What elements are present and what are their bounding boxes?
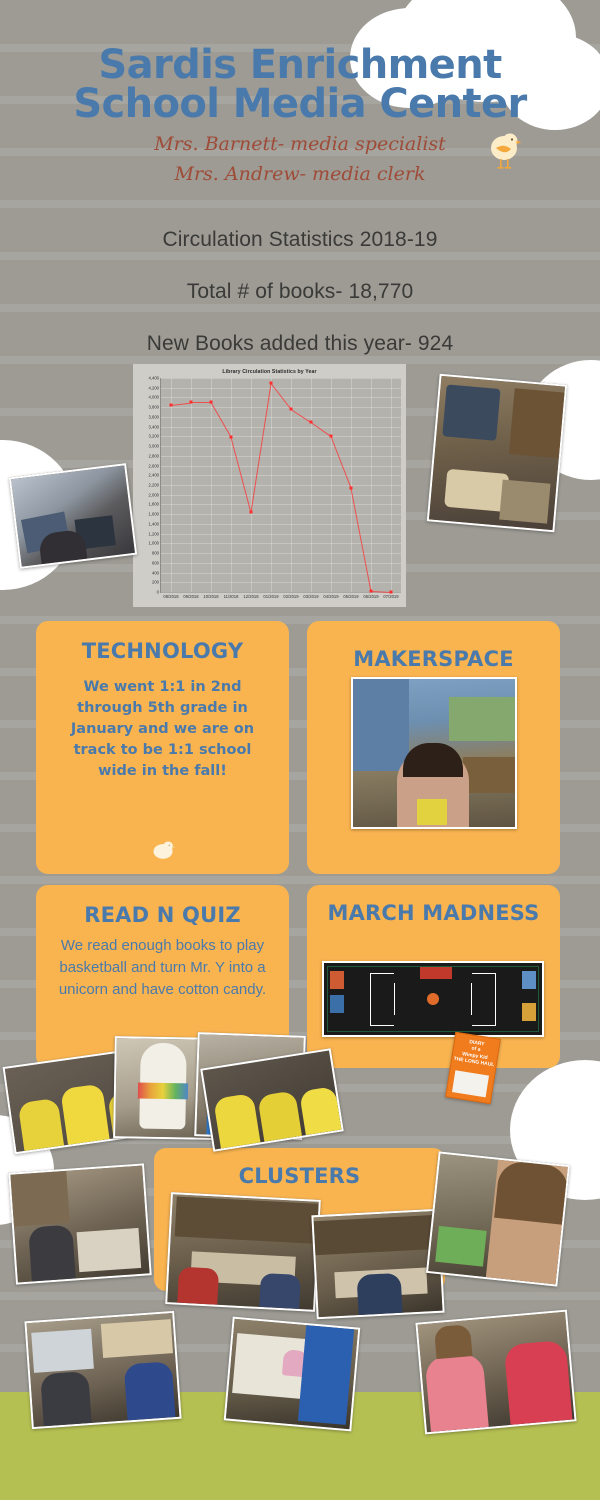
photo-cluster-table-2 [311,1209,444,1320]
chart-gridline [161,553,401,554]
chart-gridline [251,378,252,592]
chart-y-axis-tick: 1,000 [149,541,159,546]
book-cover-art [452,1070,489,1097]
chart-gridline [161,466,401,467]
chart-y-axis-tick: 4,000 [149,395,159,400]
chart-y-axis-tick: 800 [152,551,159,556]
card-read-n-quiz-body: We read enough books to play basketball … [36,927,289,1000]
chart-plot-area: 4,4004,2004,0003,8003,6003,4003,2003,000… [160,378,401,593]
chart-x-axis-tick: 06/2019 [363,594,378,599]
chart-gridline [161,504,401,505]
chart-gridline [161,514,401,515]
chart-data-point [190,401,193,404]
chart-gridline [161,582,401,583]
chart-gridline [161,573,401,574]
stat-circulation: Circulation Statistics 2018-19 [0,228,600,252]
chart-x-axis-tick: 02/2019 [283,594,298,599]
chart-gridline [391,378,392,592]
photo-cluster-computers [24,1311,181,1429]
chart-data-point [330,435,333,438]
chart-gridline [191,378,192,592]
chart-y-axis-tick: 1,200 [149,531,159,536]
chart-data-point [170,403,173,406]
chart-line-segment [311,422,332,437]
chart-gridline [271,378,272,592]
chart-y-axis-tick: 3,800 [149,405,159,410]
photo-cluster-library-1 [8,1163,151,1284]
chart-x-axis-tick: 09/2018 [183,594,198,599]
chart-y-axis-tick: 1,600 [149,512,159,517]
card-march-madness-title: MARCH MADNESS [307,885,560,925]
chart-y-axis-tick: 2,400 [149,473,159,478]
chart-gridline [171,378,172,592]
chart-x-axis-tick: 04/2019 [323,594,338,599]
chart-y-axis-tick: 3,600 [149,414,159,419]
card-read-n-quiz-title: READ N QUIZ [36,885,289,927]
chart-y-axis-tick: 0 [157,590,159,595]
stat-new-books: New Books added this year- 924 [0,332,600,356]
photo-cluster-girls-pink [415,1310,576,1435]
chart-x-axis-tick: 11/2018 [224,594,239,599]
chart-gridline [351,378,352,592]
chart-data-point [350,486,353,489]
chart-gridline [161,475,401,476]
chart-gridline [161,427,401,428]
chart-gridline [231,378,232,592]
chart-gridline [161,592,401,593]
chart-line-segment [331,437,352,489]
chart-data-point [390,591,393,594]
chart-gridline [161,456,401,457]
chart-y-axis-tick: 2,000 [149,492,159,497]
chart-x-axis-tick: 12/2018 [243,594,258,599]
chart-title: Library Circulation Statistics by Year [136,367,403,375]
stat-total-books: Total # of books- 18,770 [0,280,600,304]
chart-gridline [161,495,401,496]
chart-y-axis-tick: 400 [152,570,159,575]
card-technology-title: TECHNOLOGY [36,621,289,663]
favorite-book-cover: DIARY of a Wimpy Kid THE LONG HAUL [445,1032,501,1104]
chart-gridline [161,485,401,486]
chart-data-point [290,408,293,411]
chart-gridline [161,407,401,408]
chart-data-point [230,435,233,438]
card-technology-body: We went 1:1 in 2nd through 5th grade in … [36,663,289,782]
poster-title-line-2: School Media Center [0,85,600,124]
chart-y-axis-tick: 4,200 [149,385,159,390]
card-makerspace-title: MAKERSPACE [307,621,560,671]
photo-library-desk [9,463,137,569]
chart-data-point [210,401,213,404]
circulation-line-chart: Library Circulation Statistics by Year 4… [133,364,406,607]
chart-y-axis-tick: 4,400 [149,376,159,381]
chart-y-axis-tick: 3,000 [149,444,159,449]
chart-data-point [250,511,253,514]
chart-gridline [211,378,212,592]
chart-y-axis-tick: 3,400 [149,424,159,429]
chart-data-point [370,590,373,593]
photo-students-reading [427,374,567,533]
chart-gridline [331,378,332,592]
chart-gridline [161,436,401,437]
chart-x-axis-tick: 10/2018 [203,594,218,599]
bird-icon [486,132,522,179]
staff-credits: Mrs. Barnett- media specialist Mrs. Andr… [0,130,600,189]
chart-gridline [161,543,401,544]
chart-x-axis-tick: 07/2019 [383,594,398,599]
chart-gridline [161,524,401,525]
photo-march-madness-bracket [322,961,544,1037]
chart-y-axis-tick: 3,200 [149,434,159,439]
chart-gridline [161,388,401,389]
chart-gridline [161,378,401,379]
photo-cluster-table-1 [165,1192,321,1312]
chart-gridline [161,417,401,418]
chart-line-segment [191,402,211,403]
chart-gridline [311,378,312,592]
chart-y-axis-tick: 1,800 [149,502,159,507]
chart-x-axis-tick: 03/2019 [303,594,318,599]
chart-y-axis-tick: 2,200 [149,483,159,488]
poster-header: Sardis Enrichment School Media Center Mr… [0,46,600,189]
chart-line-segment [171,402,191,405]
chart-x-axis-tick: 01/2019 [263,594,278,599]
poster-title-line-1: Sardis Enrichment [0,46,600,85]
chart-y-axis-tick: 600 [152,560,159,565]
infographic-poster: Sardis Enrichment School Media Center Mr… [0,0,600,1500]
chart-data-point [270,382,273,385]
chart-line-segment [251,384,272,513]
chart-data-point [310,421,313,424]
chart-gridline [161,446,401,447]
chart-y-axis-tick: 1,400 [149,521,159,526]
chart-gridline [161,534,401,535]
card-technology: TECHNOLOGY We went 1:1 in 2nd through 5t… [36,621,289,874]
chart-x-axis-tick: 05/2019 [343,594,358,599]
chart-gridline [371,378,372,592]
photo-cluster-girl-right [426,1151,570,1286]
card-clusters-title: CLUSTERS [154,1148,445,1188]
photo-makerspace-student [351,677,517,829]
chart-y-axis-tick: 2,600 [149,463,159,468]
chart-x-axis-tick: 08/2018 [163,594,178,599]
chart-y-axis-tick: 2,800 [149,453,159,458]
chart-y-axis-tick: 200 [152,580,159,585]
photo-cluster-cupcake [224,1317,361,1432]
bird-icon [149,839,177,866]
